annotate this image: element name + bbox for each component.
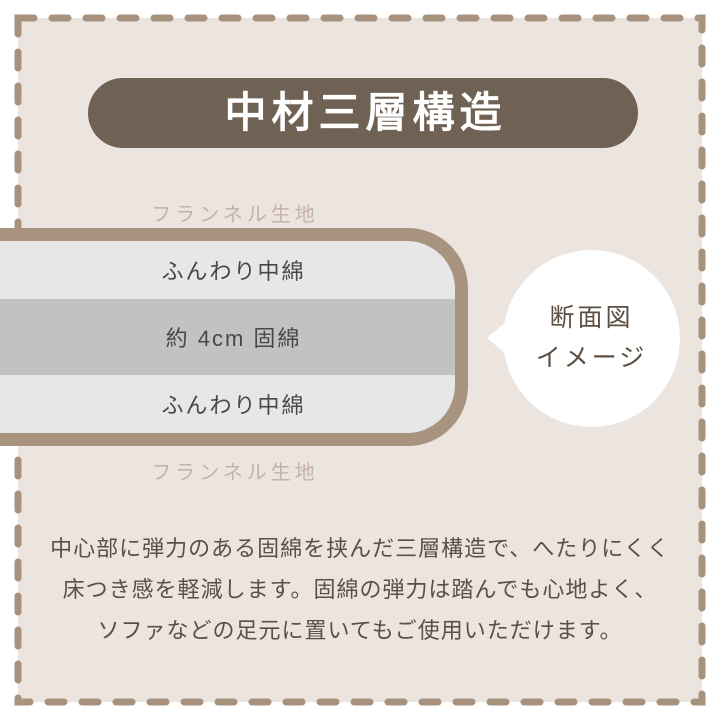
description-line-2: 床つき感を軽減します。固綿の弾力は踏んでも心地よく、: [40, 569, 680, 610]
description-line-1: 中心部に弾力のある固綿を挟んだ三層構造で、へたりにくく: [40, 528, 680, 569]
bubble-line-1: 断面図: [549, 305, 633, 333]
layer-soft-bottom: ふんわり中綿: [0, 375, 455, 433]
fabric-label-top: フランネル生地: [0, 198, 470, 227]
infographic-page: 中材三層構造 フランネル生地 ふんわり中綿 約 4cm 固綿 ふんわり中綿 フラ…: [0, 0, 720, 720]
layer-firm-core: 約 4cm 固綿: [0, 299, 455, 375]
fabric-label-bottom: フランネル生地: [0, 456, 470, 485]
description-line-3: ソファなどの足元に置いてもご使用いただけます。: [40, 610, 680, 651]
layer-soft-top: ふんわり中綿: [0, 241, 455, 299]
page-title: 中材三層構造: [219, 92, 506, 134]
bubble-line-2: イメージ: [536, 345, 648, 373]
description-block: 中心部に弾力のある固綿を挟んだ三層構造で、へたりにくく 床つき感を軽減します。固…: [40, 528, 680, 651]
cross-section-layers: ふんわり中綿 約 4cm 固綿 ふんわり中綿: [0, 241, 455, 433]
speech-bubble: 断面図 イメージ: [503, 250, 680, 427]
title-pill: 中材三層構造: [88, 78, 638, 148]
cross-section-card: ふんわり中綿 約 4cm 固綿 ふんわり中綿: [0, 228, 468, 446]
